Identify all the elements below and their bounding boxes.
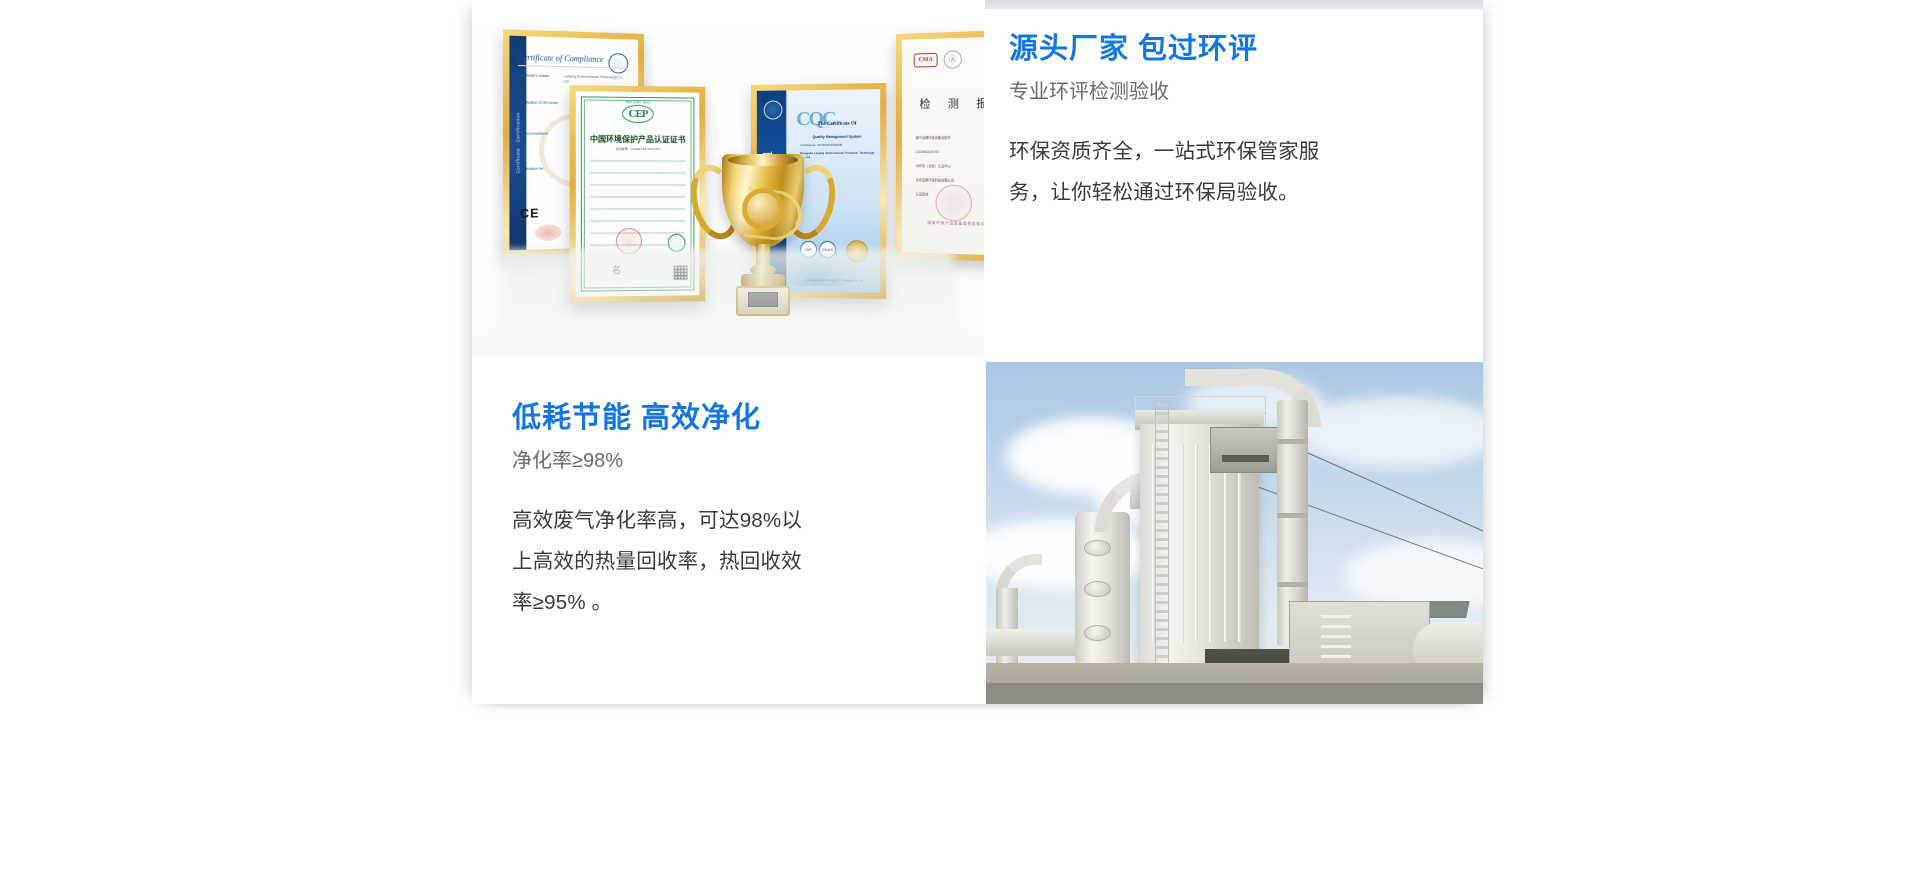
certificate-a-field-label-1: Certification ECM mode:	[518, 100, 559, 106]
certificate-a-field-label-0: Certificate's holder:	[518, 73, 550, 79]
page-root: Certificate of Compliance Certificate's …	[0, 0, 1920, 896]
test-report-field-1: LOCRBD1/6700	[916, 150, 939, 155]
cep-logo-icon: CEP	[629, 108, 648, 120]
test-report-field-2: 中环协（北京）认证中心	[916, 164, 951, 169]
certificate-a-field-label-2: Product modelled:	[518, 132, 548, 138]
plant-photo	[986, 362, 1483, 704]
feature-source-factory: 源头厂家 包过环评 专业环评检测验收 环保资质齐全，一站式环保管家服务，让你轻松…	[985, 9, 1483, 362]
certificates-reflection	[503, 249, 954, 356]
feature-low-energy: 低耗节能 高效净化 净化率≥98% 高效废气净化率高，可达98%以上高效的热量回…	[472, 400, 972, 704]
iso9001-subheading: Quality Management System	[800, 135, 874, 140]
cqc-emblem-icon	[764, 100, 783, 119]
cep-logo-caption: 中国环境保护产品认证	[625, 100, 651, 104]
feature-low-energy-body: 高效废气净化率高，可达98%以上高效的热量回收率，热回收效率≥95% 。	[512, 500, 812, 623]
feature-low-energy-title: 低耗节能 高效净化	[512, 400, 932, 436]
concrete-slab	[986, 683, 1483, 704]
iso9001-heading: The Certificate Of	[800, 121, 874, 127]
test-report-field-4: 认证检测	[916, 192, 929, 197]
feature-source-factory-title: 源头厂家 包过环评	[1009, 31, 1447, 67]
feature-source-factory-subtitle: 专业环评检测验收	[1009, 79, 1447, 105]
certificates-image: Certificate of Compliance Certificate's …	[472, 0, 984, 356]
top-divider-bar	[985, 0, 1483, 9]
test-report-title: 检 测 报 告	[920, 94, 984, 112]
feature-source-factory-body: 环保资质齐全，一站式环保管家服务，让你轻松通过环保局验收。	[1009, 131, 1329, 213]
tower-ladder	[1155, 403, 1169, 683]
certificate-a-field-label-3: Certification for:	[518, 167, 544, 173]
cma-mark-icon: CMA	[914, 53, 938, 68]
test-report-field-3: 东莞蓝鹰环保科技有限公司	[916, 178, 954, 184]
ce-mark-icon: CE	[520, 206, 540, 221]
compliance-seal-icon	[608, 53, 628, 74]
test-report-field-0: 废气治理环保设备及配件	[916, 136, 951, 141]
scrubber-tank	[1075, 512, 1130, 683]
certificate-a-field-value-0: Lanying Environmental Technology Co., Lt…	[564, 74, 627, 86]
cep-certificate-title: 中国环境保护产品认证证书	[590, 134, 686, 146]
test-report-seal-icon	[936, 184, 972, 221]
cqc-logo-icon: CQC	[796, 108, 834, 131]
test-report-certificate: CMA Ⓐ No. LY2019-007 检 测 报 告 废气治理环保设备及配件…	[896, 29, 984, 263]
cep-certificate-number: 证书编号：CCAEPI-EP-2019-007	[616, 147, 661, 151]
feature-low-energy-subtitle: 净化率≥98%	[512, 448, 932, 474]
